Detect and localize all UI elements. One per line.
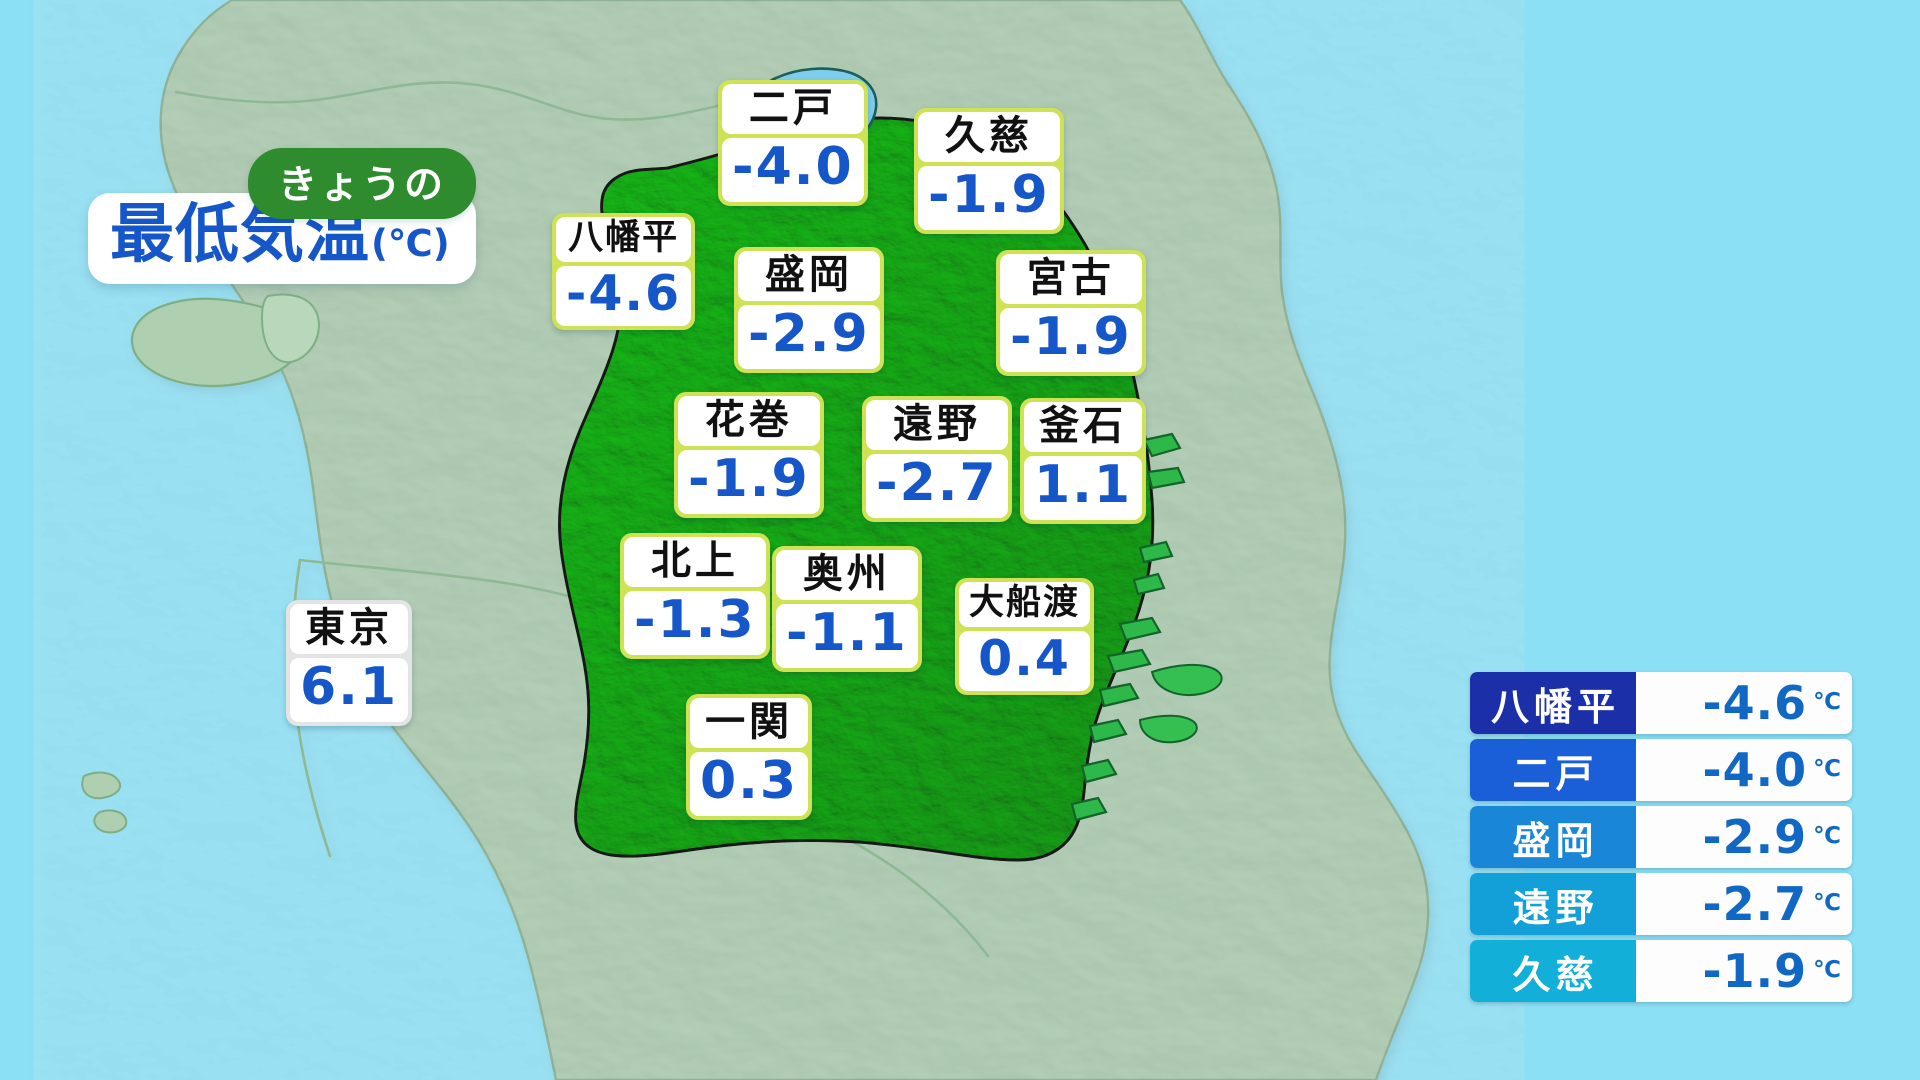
station-name: 釜石 <box>1024 402 1142 452</box>
station-label-8[interactable]: 釜石1.1 <box>1020 398 1146 524</box>
station-value: -2.9 <box>738 305 880 368</box>
ranking-row[interactable]: 遠野-2.7℃ <box>1470 873 1852 935</box>
station-name: 久慈 <box>918 112 1060 162</box>
ranking-station-name: 八幡平 <box>1470 672 1636 734</box>
station-label-10[interactable]: 奥州-1.1 <box>772 546 922 672</box>
ranking-station-name: 二戸 <box>1470 739 1636 801</box>
station-label-1[interactable]: 二戸-4.0 <box>718 80 868 206</box>
ranking-value-cell: -4.0℃ <box>1636 739 1852 801</box>
station-label-3[interactable]: 八幡平-4.6 <box>552 213 695 330</box>
station-value: 0.4 <box>959 631 1090 691</box>
station-value: -4.0 <box>722 138 864 201</box>
station-label-9[interactable]: 北上-1.3 <box>620 533 770 659</box>
weather-map-stage: きょうの 最低気温 (℃) 二戸-4.0久慈-1.9八幡平-4.6盛岡-2.9宮… <box>0 0 1920 1080</box>
ranking-value-cell: -1.9℃ <box>1636 940 1852 1002</box>
station-label-7[interactable]: 遠野-2.7 <box>862 396 1012 522</box>
station-name: 遠野 <box>866 400 1008 450</box>
ranking-value-cell: -2.9℃ <box>1636 806 1852 868</box>
ranking-value-cell: -2.7℃ <box>1636 873 1852 935</box>
station-name: 北上 <box>624 537 766 587</box>
station-label-2[interactable]: 久慈-1.9 <box>914 108 1064 234</box>
station-value: -1.9 <box>918 166 1060 229</box>
page-title: きょうの 最低気温 (℃) <box>88 193 476 284</box>
station-name: 奥州 <box>776 550 918 600</box>
ranking-row[interactable]: 二戸-4.0℃ <box>1470 739 1852 801</box>
ranking-value: -4.6 <box>1703 680 1808 726</box>
ranking-table: 八幡平-4.6℃二戸-4.0℃盛岡-2.9℃遠野-2.7℃久慈-1.9℃ <box>1470 672 1852 1002</box>
station-value: -1.3 <box>624 591 766 654</box>
ranking-unit: ℃ <box>1813 756 1841 782</box>
ranking-value: -2.7 <box>1703 881 1808 927</box>
station-label-12[interactable]: 一関0.3 <box>686 694 812 820</box>
ranking-row[interactable]: 久慈-1.9℃ <box>1470 940 1852 1002</box>
station-name: 東京 <box>290 604 408 654</box>
ranking-unit: ℃ <box>1813 823 1841 849</box>
station-name: 大船渡 <box>959 582 1090 627</box>
station-name: 盛岡 <box>738 251 880 301</box>
station-label-5[interactable]: 宮古-1.9 <box>996 250 1146 376</box>
station-value: 0.3 <box>690 752 808 815</box>
station-value: 1.1 <box>1024 456 1142 519</box>
station-label-11[interactable]: 大船渡0.4 <box>955 578 1094 695</box>
ranking-value: -2.9 <box>1703 814 1808 860</box>
station-label-4[interactable]: 盛岡-2.9 <box>734 247 884 373</box>
station-name: 八幡平 <box>556 217 691 262</box>
title-unit-text: (℃) <box>371 222 450 265</box>
station-label-6[interactable]: 花巻-1.9 <box>674 392 824 518</box>
station-name: 宮古 <box>1000 254 1142 304</box>
station-value: 6.1 <box>290 658 408 721</box>
ranking-value: -4.0 <box>1703 747 1808 793</box>
title-badge: きょうの <box>248 148 476 219</box>
ranking-value: -1.9 <box>1703 948 1808 994</box>
ranking-station-name: 遠野 <box>1470 873 1636 935</box>
ranking-unit: ℃ <box>1813 890 1841 916</box>
station-value: -4.6 <box>556 266 691 326</box>
ranking-station-name: 久慈 <box>1470 940 1636 1002</box>
ranking-value-cell: -4.6℃ <box>1636 672 1852 734</box>
ranking-unit: ℃ <box>1813 957 1841 983</box>
station-name: 一関 <box>690 698 808 748</box>
ranking-unit: ℃ <box>1813 689 1841 715</box>
station-value: -1.9 <box>1000 308 1142 371</box>
station-name: 二戸 <box>722 84 864 134</box>
station-value: -1.1 <box>776 604 918 667</box>
station-label-13[interactable]: 東京6.1 <box>286 600 412 726</box>
ranking-station-name: 盛岡 <box>1470 806 1636 868</box>
station-value: -1.9 <box>678 450 820 513</box>
station-name: 花巻 <box>678 396 820 446</box>
ranking-row[interactable]: 八幡平-4.6℃ <box>1470 672 1852 734</box>
station-value: -2.7 <box>866 454 1008 517</box>
ranking-row[interactable]: 盛岡-2.9℃ <box>1470 806 1852 868</box>
